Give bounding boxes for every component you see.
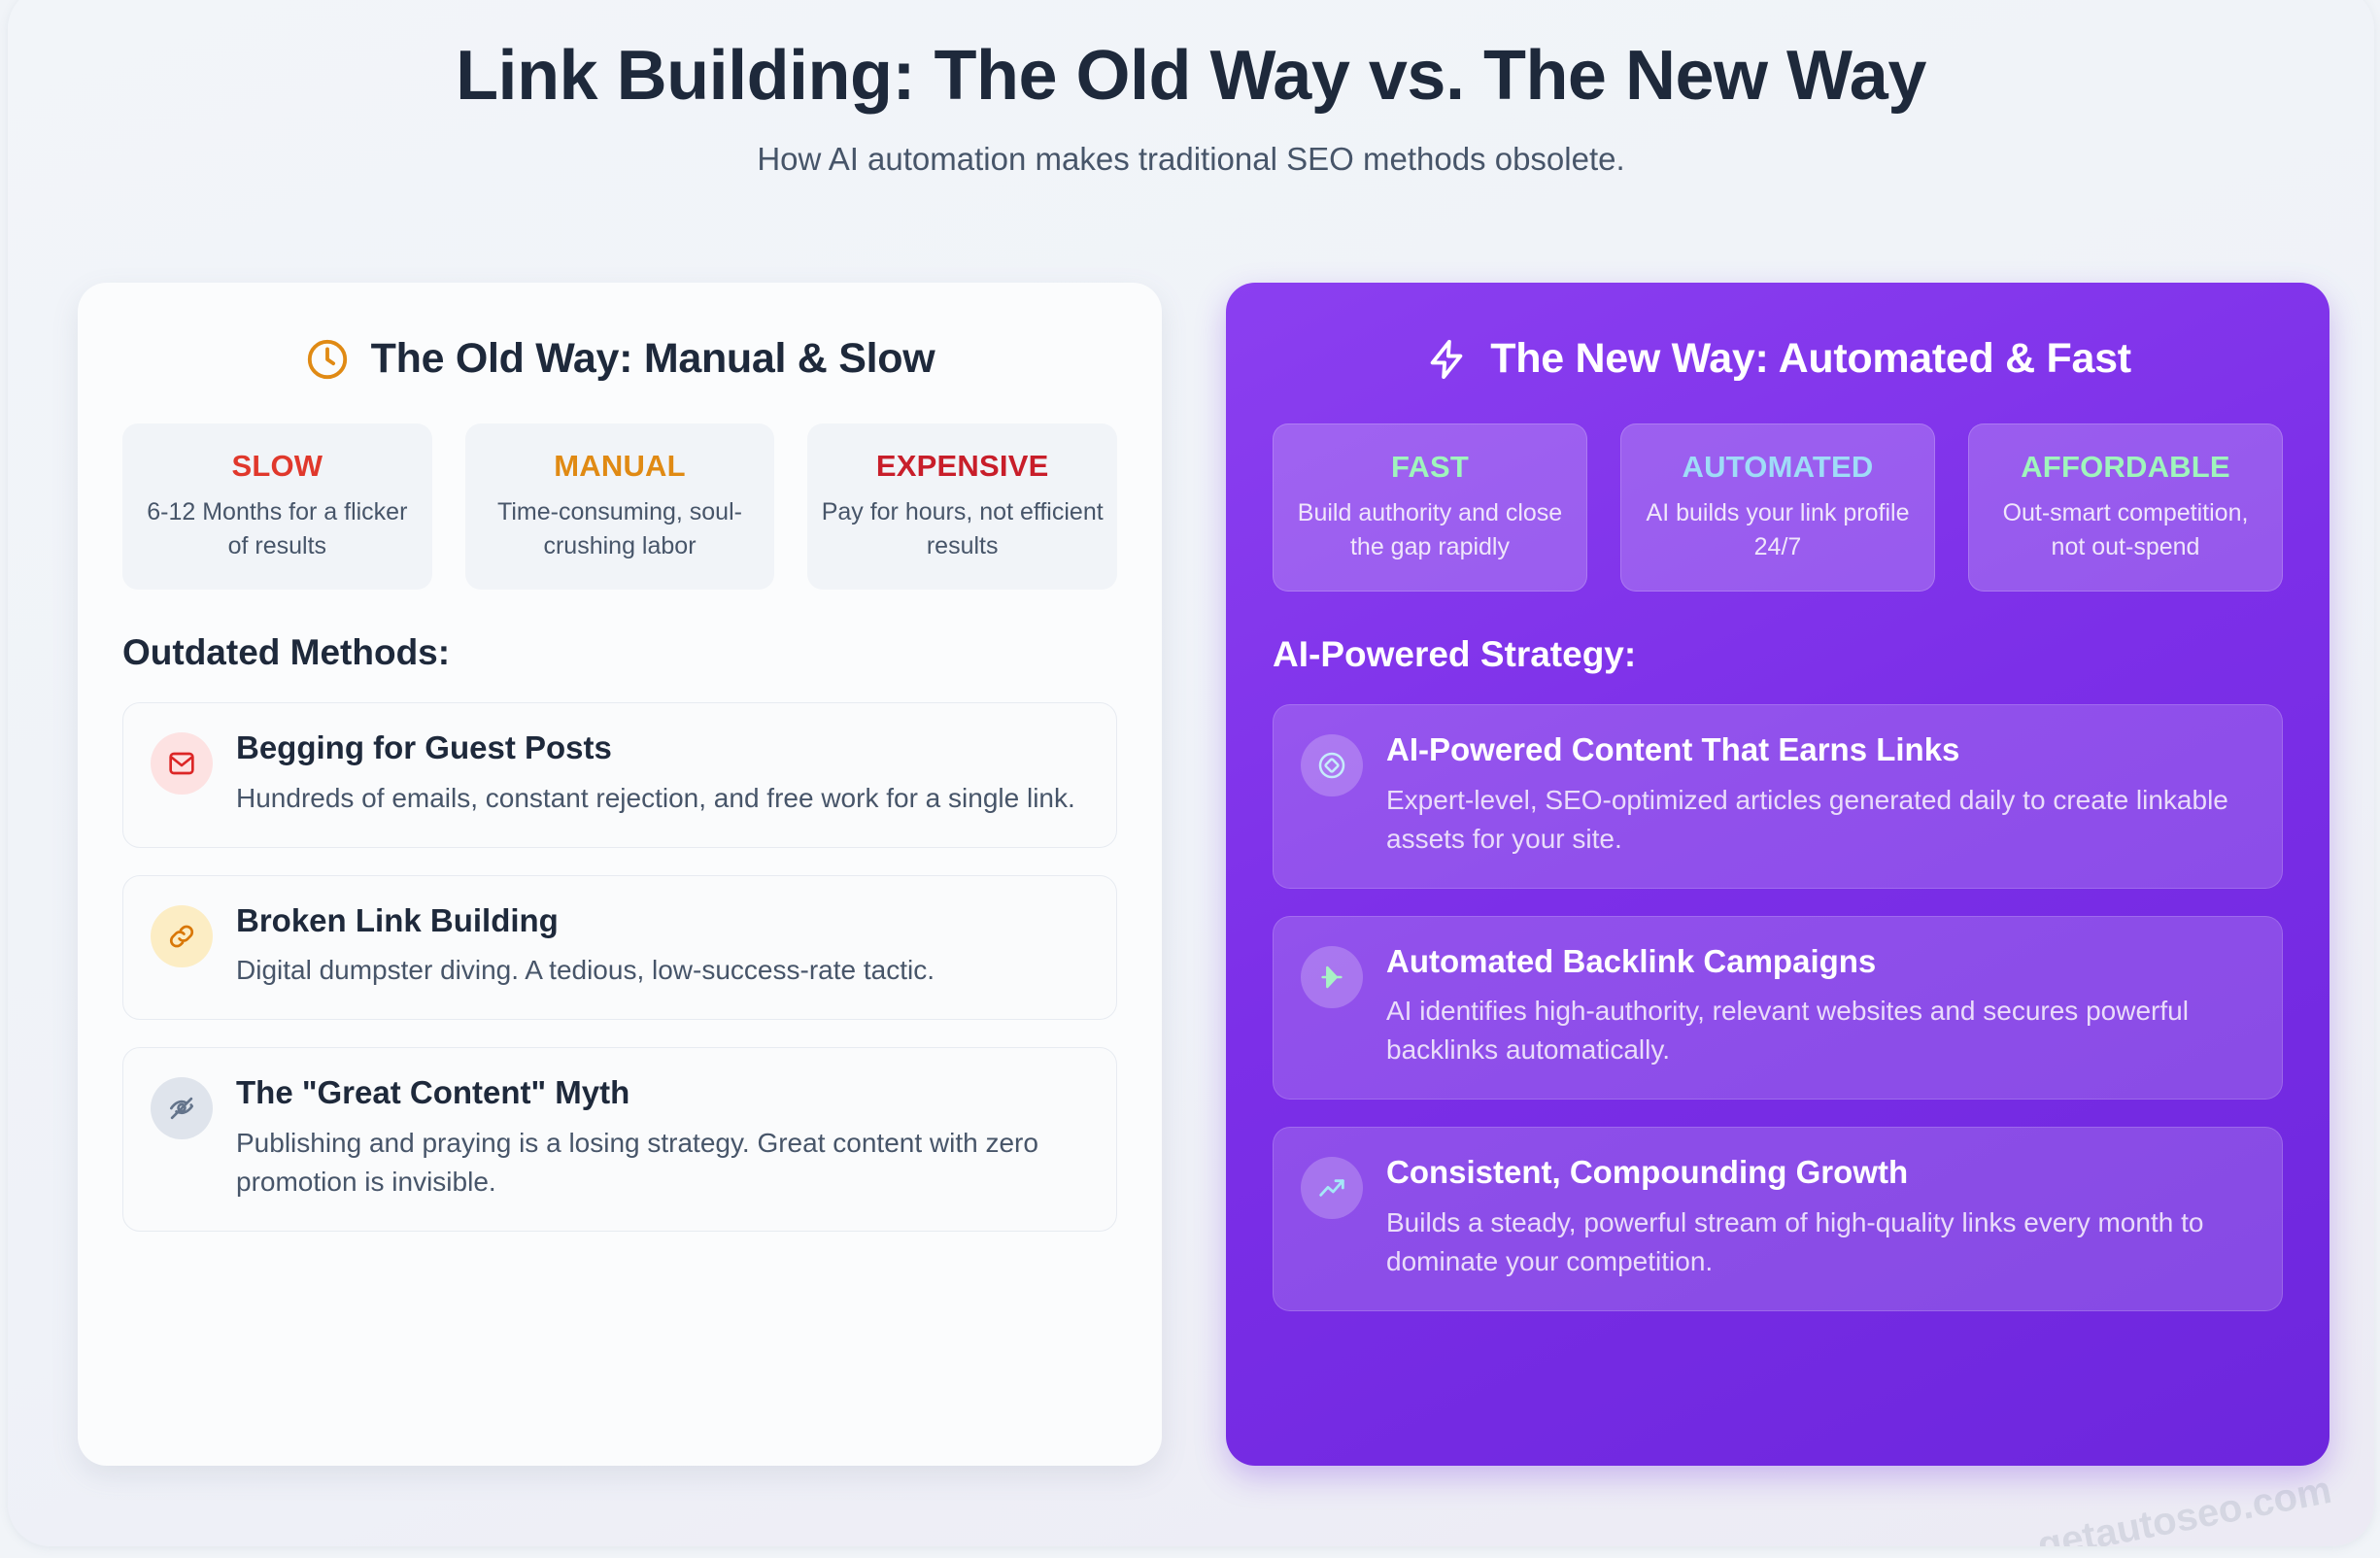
- list-item-title: Begging for Guest Posts: [236, 728, 1087, 767]
- list-item: Begging for Guest Posts Hundreds of emai…: [122, 702, 1117, 848]
- stat-box-manual: MANUAL Time-consuming, soul-crushing lab…: [465, 423, 775, 590]
- list-item-body: The "Great Content" Myth Publishing and …: [236, 1073, 1087, 1202]
- eye-off-icon: [151, 1077, 213, 1139]
- mail-icon: [151, 732, 213, 795]
- stat-desc: AI builds your link profile 24/7: [1635, 496, 1921, 563]
- stat-label: FAST: [1287, 450, 1573, 485]
- list-item-body: Automated Backlink Campaigns AI identifi…: [1386, 942, 2253, 1070]
- stat-label: AFFORDABLE: [1983, 450, 2268, 485]
- gem-circle-icon: [1301, 734, 1363, 796]
- list-item: The "Great Content" Myth Publishing and …: [122, 1047, 1117, 1232]
- list-item: Automated Backlink Campaigns AI identifi…: [1273, 916, 2283, 1101]
- lightning-bolt-icon: [1424, 337, 1469, 382]
- list-item-title: Broken Link Building: [236, 901, 1087, 940]
- stat-desc: Build authority and close the gap rapidl…: [1287, 496, 1573, 563]
- list-item: Broken Link Building Digital dumpster di…: [122, 875, 1117, 1021]
- link-icon: [151, 905, 213, 967]
- stat-desc: Pay for hours, not efficient results: [821, 495, 1104, 562]
- list-item-body: Begging for Guest Posts Hundreds of emai…: [236, 728, 1087, 818]
- clock-icon: [305, 337, 350, 382]
- list-item-desc: AI identifies high-authority, relevant w…: [1386, 992, 2253, 1069]
- list-item-desc: Publishing and praying is a losing strat…: [236, 1124, 1087, 1202]
- old-way-card-header: The Old Way: Manual & Slow: [122, 335, 1117, 383]
- new-way-card: The New Way: Automated & Fast FAST Build…: [1226, 283, 2329, 1466]
- outdated-methods-heading: Outdated Methods:: [122, 632, 1117, 673]
- list-item-desc: Builds a steady, powerful stream of high…: [1386, 1203, 2253, 1281]
- page-header: Link Building: The Old Way vs. The New W…: [8, 37, 2374, 178]
- arrow-right-circle-icon: [1301, 946, 1363, 1008]
- old-way-card: The Old Way: Manual & Slow SLOW 6-12 Mon…: [78, 283, 1162, 1466]
- stat-desc: Out-smart competition, not out-spend: [1983, 496, 2268, 563]
- old-way-stat-row: SLOW 6-12 Months for a flicker of result…: [122, 423, 1117, 590]
- list-item: Consistent, Compounding Growth Builds a …: [1273, 1127, 2283, 1311]
- stat-box-slow: SLOW 6-12 Months for a flicker of result…: [122, 423, 432, 590]
- stat-box-fast: FAST Build authority and close the gap r…: [1273, 423, 1587, 592]
- outdated-methods-list: Begging for Guest Posts Hundreds of emai…: [122, 702, 1117, 1232]
- page-frame: Link Building: The Old Way vs. The New W…: [8, 0, 2374, 1546]
- list-item-desc: Expert-level, SEO-optimized articles gen…: [1386, 781, 2253, 859]
- trending-up-icon: [1301, 1157, 1363, 1219]
- page-title: Link Building: The Old Way vs. The New W…: [8, 37, 2374, 116]
- list-item-title: AI-Powered Content That Earns Links: [1386, 730, 2253, 769]
- list-item-desc: Digital dumpster diving. A tedious, low-…: [236, 951, 1087, 990]
- stat-desc: 6-12 Months for a flicker of results: [136, 495, 419, 562]
- old-way-title: The Old Way: Manual & Slow: [371, 335, 935, 383]
- stat-label: SLOW: [136, 449, 419, 484]
- comparison-cards: The Old Way: Manual & Slow SLOW 6-12 Mon…: [78, 283, 2329, 1466]
- new-way-stat-row: FAST Build authority and close the gap r…: [1273, 423, 2283, 592]
- stat-box-affordable: AFFORDABLE Out-smart competition, not ou…: [1968, 423, 2283, 592]
- list-item-title: Automated Backlink Campaigns: [1386, 942, 2253, 981]
- stat-box-automated: AUTOMATED AI builds your link profile 24…: [1620, 423, 1935, 592]
- ai-strategy-heading: AI-Powered Strategy:: [1273, 634, 2283, 675]
- page-subtitle: How AI automation makes traditional SEO …: [8, 141, 2374, 178]
- stat-box-expensive: EXPENSIVE Pay for hours, not efficient r…: [807, 423, 1117, 590]
- list-item-body: Broken Link Building Digital dumpster di…: [236, 901, 1087, 991]
- new-way-card-header: The New Way: Automated & Fast: [1273, 335, 2283, 383]
- list-item-desc: Hundreds of emails, constant rejection, …: [236, 779, 1087, 818]
- stat-desc: Time-consuming, soul-crushing labor: [479, 495, 762, 562]
- list-item: AI-Powered Content That Earns Links Expe…: [1273, 704, 2283, 889]
- new-way-title: The New Way: Automated & Fast: [1490, 335, 2130, 383]
- list-item-body: AI-Powered Content That Earns Links Expe…: [1386, 730, 2253, 859]
- stat-label: AUTOMATED: [1635, 450, 1921, 485]
- watermark: getautoseo.com: [2034, 1469, 2335, 1546]
- list-item-body: Consistent, Compounding Growth Builds a …: [1386, 1153, 2253, 1281]
- list-item-title: Consistent, Compounding Growth: [1386, 1153, 2253, 1192]
- stat-label: EXPENSIVE: [821, 449, 1104, 484]
- ai-strategy-list: AI-Powered Content That Earns Links Expe…: [1273, 704, 2283, 1311]
- list-item-title: The "Great Content" Myth: [236, 1073, 1087, 1112]
- stat-label: MANUAL: [479, 449, 762, 484]
